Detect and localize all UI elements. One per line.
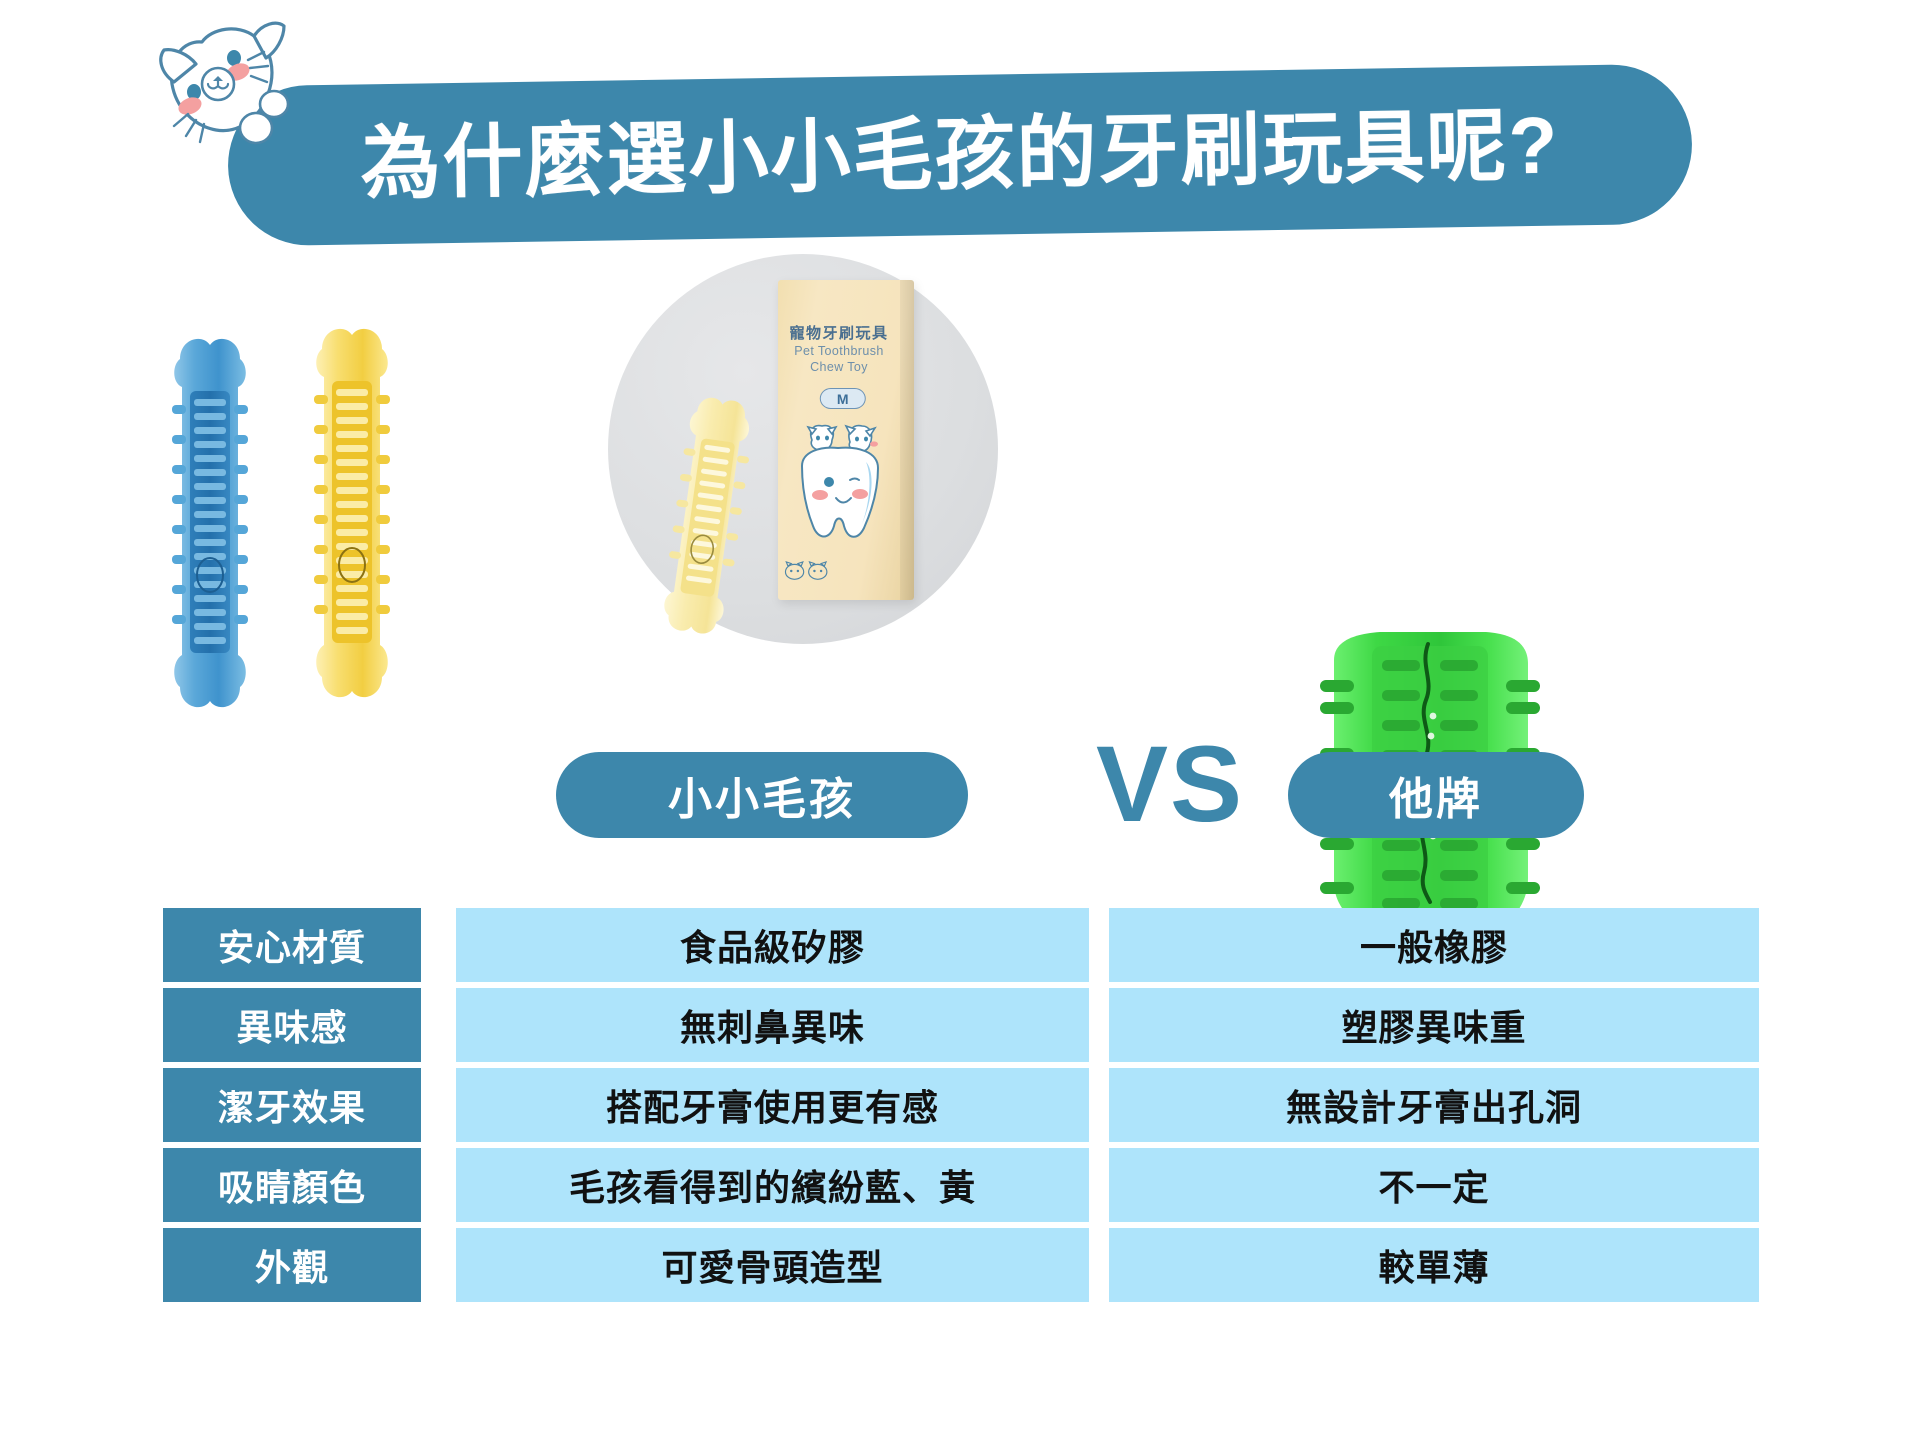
row-label: 外觀 bbox=[163, 1228, 421, 1302]
vs-label: VS bbox=[1060, 730, 1280, 838]
row-label: 吸睛顏色 bbox=[163, 1148, 421, 1222]
table-row: 安心材質 食品級矽膠 一般橡膠 bbox=[163, 908, 1776, 982]
row-value-other: 較單薄 bbox=[1109, 1228, 1759, 1302]
product-showcase: 寵物牙刷玩具 Pet Toothbrush Chew Toy M bbox=[0, 250, 1920, 730]
row-value-other: 無設計牙膏出孔洞 bbox=[1109, 1068, 1759, 1142]
brand-logo-icon bbox=[778, 560, 836, 582]
table-row: 外觀 可愛骨頭造型 較單薄 bbox=[163, 1228, 1776, 1302]
row-label: 安心材質 bbox=[163, 908, 421, 982]
blue-bone-toothbrush-toy bbox=[150, 325, 270, 725]
row-label: 潔牙效果 bbox=[163, 1068, 421, 1142]
table-row: 吸睛顏色 毛孩看得到的繽紛藍、黃 不一定 bbox=[163, 1148, 1776, 1222]
comparison-table: 安心材質 食品級矽膠 一般橡膠 異味感 無刺鼻異味 塑膠異味重 潔牙效果 搭配牙… bbox=[163, 908, 1776, 1308]
row-value-ours: 可愛骨頭造型 bbox=[456, 1228, 1089, 1302]
table-row: 異味感 無刺鼻異味 塑膠異味重 bbox=[163, 988, 1776, 1062]
row-value-other: 一般橡膠 bbox=[1109, 908, 1759, 982]
brand-pill-ours[interactable]: 小小毛孩 bbox=[556, 752, 968, 838]
tooth-mascot-illustration bbox=[786, 418, 892, 546]
row-value-ours: 食品級矽膠 bbox=[456, 908, 1089, 982]
row-value-ours: 無刺鼻異味 bbox=[456, 988, 1089, 1062]
our-product-photos bbox=[150, 315, 480, 715]
product-packaging-box: 寵物牙刷玩具 Pet Toothbrush Chew Toy M bbox=[778, 280, 914, 600]
packaging-title-en-line1: Pet Toothbrush bbox=[778, 344, 900, 360]
row-label: 異味感 bbox=[163, 988, 421, 1062]
cream-bone-toothbrush-toy bbox=[655, 390, 765, 640]
packaging-title-en: Pet Toothbrush Chew Toy bbox=[778, 344, 900, 375]
yellow-bone-toothbrush-toy bbox=[292, 315, 412, 715]
infographic-page: 為什麼選小小毛孩的牙刷玩具呢? bbox=[0, 0, 1920, 1452]
packaging-title-cn: 寵物牙刷玩具 bbox=[778, 322, 900, 343]
box-side-shade bbox=[900, 280, 914, 600]
packaging-title-en-line2: Chew Toy bbox=[778, 360, 900, 376]
packaging-size-badge: M bbox=[820, 388, 866, 409]
row-value-other: 塑膠異味重 bbox=[1109, 988, 1759, 1062]
brand-pill-other[interactable]: 他牌 bbox=[1288, 752, 1584, 838]
page-title: 為什麼選小小毛孩的牙刷玩具呢? bbox=[227, 64, 1693, 247]
row-value-ours: 毛孩看得到的繽紛藍、黃 bbox=[456, 1148, 1089, 1222]
row-value-other: 不一定 bbox=[1109, 1148, 1759, 1222]
table-row: 潔牙效果 搭配牙膏使用更有感 無設計牙膏出孔洞 bbox=[163, 1068, 1776, 1142]
row-value-ours: 搭配牙膏使用更有感 bbox=[456, 1068, 1089, 1142]
